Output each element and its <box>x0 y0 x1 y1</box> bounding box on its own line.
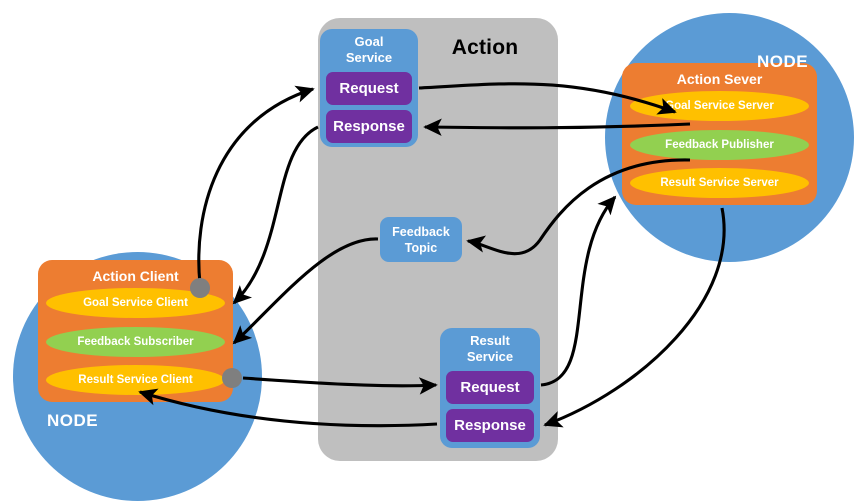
pill-result-service-server: Result Service Server <box>630 168 809 198</box>
result-service-title-line2: Service <box>467 349 513 364</box>
result-service-request: Request <box>446 371 534 404</box>
arrow-goal-response-to-goal-client <box>234 127 318 303</box>
result-service-title: Result Service <box>440 333 540 365</box>
goal-service-box: Goal Service Request Response <box>320 29 418 147</box>
goal-service-title: Goal Service <box>320 34 418 66</box>
pill-feedback-publisher: Feedback Publisher <box>630 130 809 160</box>
pill-feedback-subscriber: Feedback Subscriber <box>46 327 225 357</box>
feedback-topic-line2: Topic <box>405 240 437 256</box>
result-service-box: Result Service Request Response <box>440 328 540 448</box>
action-server-group: Action Sever Goal Service Server Feedbac… <box>622 63 817 205</box>
result-service-response: Response <box>446 409 534 442</box>
server-node-label: NODE <box>757 52 808 72</box>
goal-service-request: Request <box>326 72 412 105</box>
feedback-topic-box: Feedback Topic <box>380 217 462 262</box>
arrow-goal-client-to-goal-request <box>199 89 313 284</box>
action-server-title: Action Sever <box>622 71 817 87</box>
goal-service-title-line1: Goal <box>355 34 384 49</box>
diagram-canvas: Action Action Client Goal Service Client… <box>0 0 854 480</box>
goal-service-client-connector-dot <box>190 278 210 298</box>
pill-goal-service-server: Goal Service Server <box>630 91 809 121</box>
action-panel-title: Action <box>420 36 550 60</box>
feedback-topic-line1: Feedback <box>392 224 450 240</box>
result-service-title-line1: Result <box>470 333 510 348</box>
client-node-label: NODE <box>47 411 98 431</box>
result-service-client-connector-dot <box>222 368 242 388</box>
goal-service-title-line2: Service <box>346 50 392 65</box>
goal-service-response: Response <box>326 110 412 143</box>
pill-result-service-client: Result Service Client <box>46 365 225 395</box>
